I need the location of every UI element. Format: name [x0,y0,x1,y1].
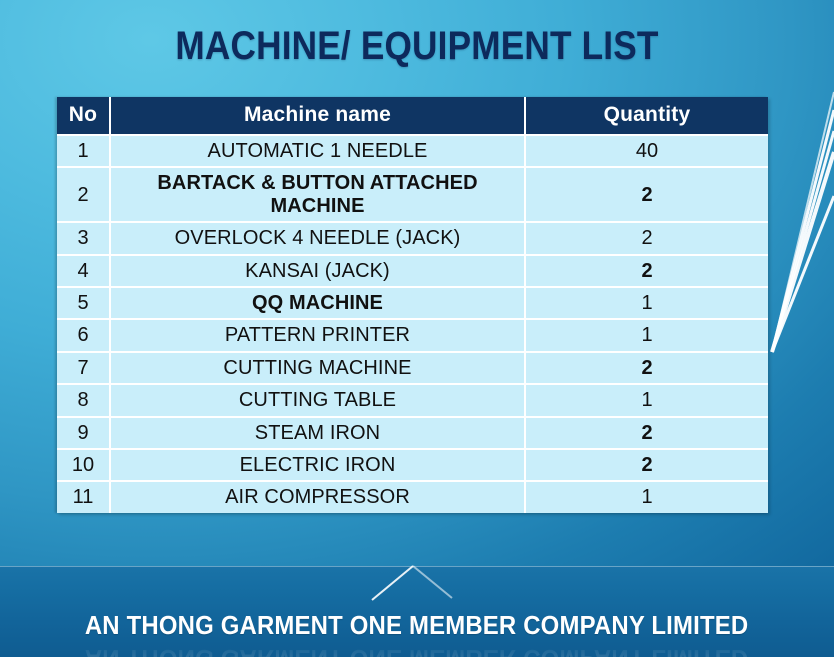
cell-quantity: 2 [525,222,768,254]
cell-no: 11 [57,481,110,512]
cell-no: 3 [57,222,110,254]
column-header-quantity: Quantity [525,97,768,135]
table-row: 8CUTTING TABLE1 [57,384,768,416]
cell-quantity: 2 [525,167,768,222]
table-row: 3OVERLOCK 4 NEEDLE (JACK)2 [57,222,768,254]
cell-quantity: 2 [525,255,768,287]
cell-machine-name: OVERLOCK 4 NEEDLE (JACK) [110,222,525,254]
column-header-machine-name: Machine name [110,97,525,135]
cell-no: 6 [57,319,110,351]
cell-quantity: 2 [525,417,768,449]
cell-machine-name: ELECTRIC IRON [110,449,525,481]
table-row: 5QQ MACHINE1 [57,287,768,319]
cell-no: 4 [57,255,110,287]
cell-quantity: 1 [525,319,768,351]
table-row: 11AIR COMPRESSOR1 [57,481,768,512]
cell-machine-name: CUTTING TABLE [110,384,525,416]
cell-quantity: 2 [525,352,768,384]
table-row: 7CUTTING MACHINE2 [57,352,768,384]
cell-quantity: 1 [525,287,768,319]
column-header-no: No [57,97,110,135]
table-body: 1AUTOMATIC 1 NEEDLE402BARTACK & BUTTON A… [57,135,768,513]
cell-quantity: 1 [525,384,768,416]
table-row: 6PATTERN PRINTER1 [57,319,768,351]
page-title: MACHINE/ EQUIPMENT LIST [50,24,784,69]
cell-machine-name: STEAM IRON [110,417,525,449]
cell-quantity: 40 [525,135,768,167]
equipment-table-container: No Machine name Quantity 1AUTOMATIC 1 NE… [57,97,768,513]
table-row: 10ELECTRIC IRON2 [57,449,768,481]
table-header: No Machine name Quantity [57,97,768,135]
cell-machine-name: AIR COMPRESSOR [110,481,525,512]
table-header-row: No Machine name Quantity [57,97,768,135]
cell-no: 2 [57,167,110,222]
equipment-table: No Machine name Quantity 1AUTOMATIC 1 NE… [57,97,768,513]
footer-company-title: AN THONG GARMENT ONE MEMBER COMPANY LIMI… [0,610,834,641]
table-row: 4KANSAI (JACK)2 [57,255,768,287]
cell-machine-name: AUTOMATIC 1 NEEDLE [110,135,525,167]
cell-machine-name: BARTACK & BUTTON ATTACHED MACHINE [110,167,525,222]
footer-company-label: AN THONG GARMENT ONE MEMBER COMPANY LIMI… [85,610,749,641]
slide-canvas: MACHINE/ EQUIPMENT LIST No Machine name … [0,0,834,657]
table-row: 9STEAM IRON2 [57,417,768,449]
cell-quantity: 1 [525,481,768,512]
table-row: 2BARTACK & BUTTON ATTACHED MACHINE2 [57,167,768,222]
cell-no: 1 [57,135,110,167]
table-row: 1AUTOMATIC 1 NEEDLE40 [57,135,768,167]
cell-no: 5 [57,287,110,319]
cell-machine-name: KANSAI (JACK) [110,255,525,287]
cell-no: 8 [57,384,110,416]
cell-machine-name: CUTTING MACHINE [110,352,525,384]
cell-machine-name: PATTERN PRINTER [110,319,525,351]
cell-no: 7 [57,352,110,384]
cell-machine-name: QQ MACHINE [110,287,525,319]
cell-quantity: 2 [525,449,768,481]
cell-no: 9 [57,417,110,449]
cell-no: 10 [57,449,110,481]
